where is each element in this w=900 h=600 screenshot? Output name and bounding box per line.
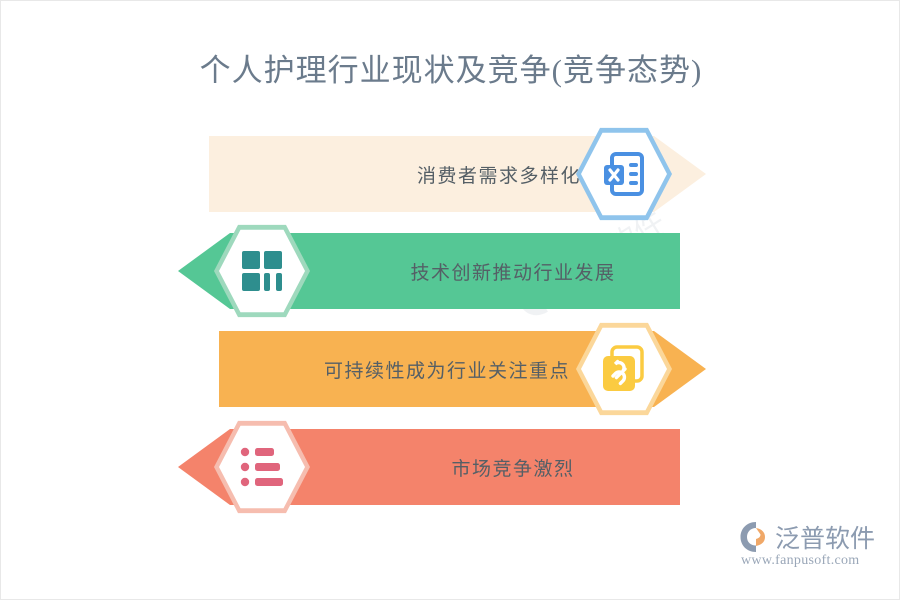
flow-row-label: 技术创新推动行业发展 (363, 233, 663, 309)
flow-row-badge[interactable] (576, 321, 672, 417)
flow-row-badge[interactable] (576, 126, 672, 222)
page-title: 个人护理行业现状及竞争(竞争态势) (1, 45, 900, 90)
flow-row-4[interactable]: 市场竞争激烈 (178, 429, 680, 505)
excel-document-icon (598, 148, 650, 200)
brand-name: 泛普软件 (775, 519, 875, 555)
flow-row-2[interactable]: 技术创新推动行业发展 (178, 233, 680, 309)
flow-row-3[interactable]: 可持续性成为行业关注重点 (219, 331, 706, 407)
fanpu-logo-icon (739, 521, 773, 553)
flow-row-label: 市场竞争激烈 (363, 429, 663, 505)
bullet-list-icon (236, 441, 288, 493)
flow-row-badge[interactable] (214, 223, 310, 319)
link-chain-icon (598, 343, 650, 395)
brand-logo[interactable]: 泛普软件 www.fanpusoft.com (739, 519, 879, 577)
flow-row-label: 可持续性成为行业关注重点 (297, 331, 597, 407)
infographic-canvas: 个人护理行业现状及竞争(竞争态势) 泛普软件 FANPU SOFTWARE 消费… (0, 0, 900, 600)
flow-row-badge[interactable] (214, 419, 310, 515)
dashboard-grid-icon (236, 245, 288, 297)
brand-url: www.fanpusoft.com (741, 553, 860, 569)
flow-row-1[interactable]: 消费者需求多样化 (209, 136, 706, 212)
